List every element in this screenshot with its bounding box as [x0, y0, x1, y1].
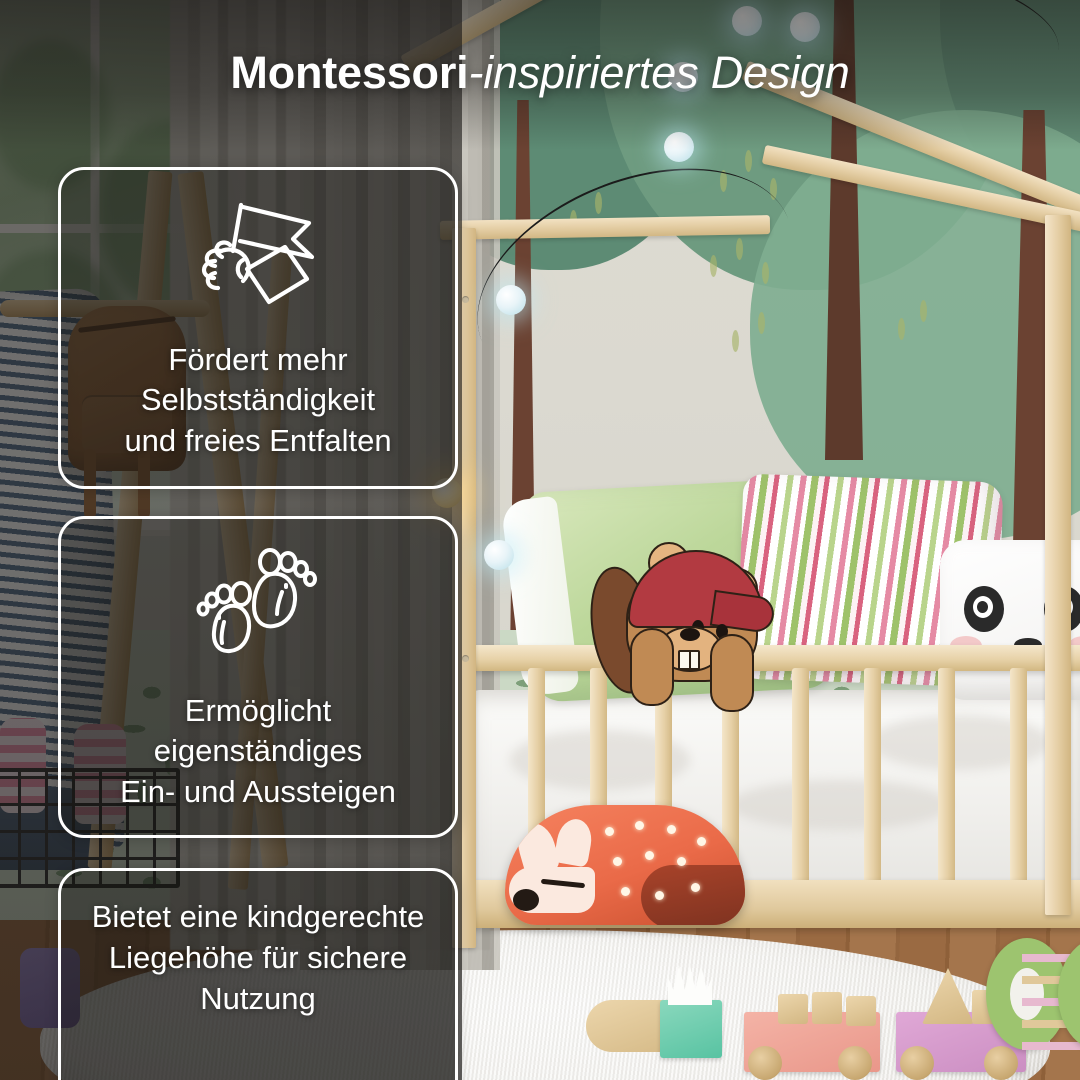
bed-rail-slat	[1010, 668, 1027, 884]
toy-wheel	[900, 1046, 934, 1080]
beaver-teeth	[678, 650, 700, 670]
feature-card-1-text: Fördert mehr Selbstständigkeit und freie…	[124, 340, 391, 461]
toy-cart-mint	[660, 1000, 722, 1058]
bed-rail-slat	[864, 668, 881, 884]
hand-holding-flag-icon	[199, 201, 317, 314]
fox-night-lamp	[505, 805, 745, 925]
feature-card-2-line-3: Ein- und Aussteigen	[120, 772, 396, 812]
panda-eye-left	[964, 586, 1004, 632]
bed-rail-slat	[792, 668, 809, 884]
lamp-bulb	[677, 857, 686, 866]
feature-card-1-line-1: Fördert mehr	[124, 340, 391, 380]
fox-nose	[513, 889, 539, 911]
bed-screw	[462, 655, 469, 662]
beaver-nose	[680, 628, 700, 641]
lamp-bulb	[667, 825, 676, 834]
feature-card-3-text: Bietet eine kindgerechte Liegehöhe für s…	[92, 897, 425, 1020]
toy-wheel	[984, 1046, 1018, 1080]
string-light-bulb	[484, 540, 514, 570]
title-bold-part: Montessori	[230, 47, 468, 98]
feature-card-1[interactable]: Fördert mehr Selbstständigkeit und freie…	[58, 167, 458, 489]
feature-card-1-line-3: und freies Entfalten	[124, 421, 391, 461]
mural-leaf	[758, 312, 765, 334]
feature-card-2[interactable]: Ermöglicht eigenständiges Ein- und Ausst…	[58, 516, 458, 838]
mural-leaf	[745, 150, 752, 172]
baby-footprints-icon	[194, 548, 322, 665]
lamp-bulb	[655, 891, 664, 900]
string-light-bulb	[496, 285, 526, 315]
title-italic-part: -inspiriertes Design	[468, 47, 849, 98]
bed-screw	[462, 296, 469, 303]
lamp-bulb	[645, 851, 654, 860]
page-title: Montessori-inspiriertes Design	[0, 48, 1080, 98]
feature-card-2-line-1: Ermöglicht	[120, 691, 396, 731]
feature-card-1-line-2: Selbstständigkeit	[124, 380, 391, 420]
lamp-bulb	[605, 827, 614, 836]
lamp-bulb	[621, 887, 630, 896]
mural-leaf	[920, 300, 927, 322]
lamp-bulb	[635, 821, 644, 830]
feature-card-3-line-1: Bietet eine kindgerechte	[92, 897, 425, 938]
lamp-bulb	[691, 883, 700, 892]
toy-block	[778, 994, 808, 1024]
lamp-bulb	[613, 857, 622, 866]
beaver-paw-right	[710, 634, 754, 712]
beaver-paw-left	[630, 628, 674, 706]
feature-card-3-line-3: Nutzung	[92, 979, 425, 1020]
mural-leaf	[898, 318, 905, 340]
bed-guard-rail-top	[470, 645, 1080, 671]
feature-card-2-text: Ermöglicht eigenständiges Ein- und Ausst…	[120, 691, 396, 812]
lamp-bulb	[697, 837, 706, 846]
bed-post-right	[1045, 215, 1071, 915]
toy-block	[846, 996, 876, 1026]
toy-wheel	[748, 1046, 782, 1080]
bed-rail-slat	[938, 668, 955, 884]
toy-wheel	[838, 1046, 872, 1080]
feature-card-3[interactable]: Bietet eine kindgerechte Liegehöhe für s…	[58, 868, 458, 1080]
toy-block	[812, 992, 842, 1024]
sheet-fold	[730, 780, 950, 830]
product-feature-image: Montessori-inspiriertes Design Fördert m…	[0, 0, 1080, 1080]
feature-card-3-line-2: Liegehöhe für sichere	[92, 938, 425, 979]
fox-ear-right	[553, 816, 594, 867]
feature-card-2-line-2: eigenständiges	[120, 731, 396, 771]
beaver-character	[592, 538, 772, 706]
